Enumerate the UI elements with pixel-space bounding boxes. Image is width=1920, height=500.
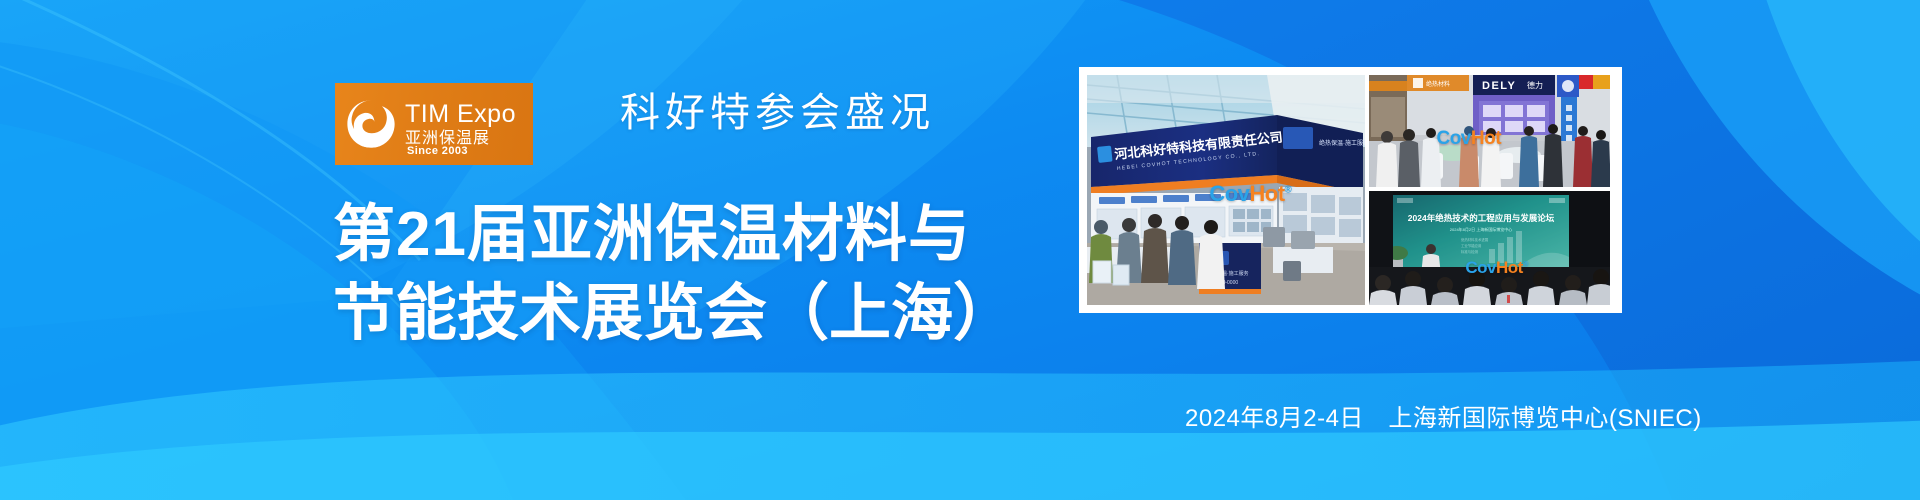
logo-title: TIM Expo bbox=[405, 102, 516, 127]
svg-text:DELY: DELY bbox=[1482, 80, 1516, 92]
hall-photo[interactable]: 绝热材料 DELY 德力 bbox=[1369, 75, 1610, 187]
svg-text:绝热材料: 绝热材料 bbox=[1426, 80, 1450, 88]
headline-line-2: 节能技术展览会（上海） bbox=[333, 274, 1015, 353]
photo-collage: 河北科好特科技有限责任公司 HEBEI COVHOT TECHNOLOGY CO… bbox=[1079, 67, 1622, 313]
covhot-brand-logo: CovHot bbox=[1436, 129, 1501, 148]
covhot-brand-logo: CovHot® bbox=[1465, 259, 1528, 276]
banner-headline: 第21届亚洲保温材料与 节能技术展览会（上海） bbox=[333, 195, 1015, 354]
svg-text:2024年8月2日 上海新国际博览中心: 2024年8月2日 上海新国际博览中心 bbox=[1450, 226, 1512, 232]
booth-photo[interactable]: 河北科好特科技有限责任公司 HEBEI COVHOT TECHNOLOGY CO… bbox=[1087, 75, 1365, 305]
svg-text:绝热材料技术进展: 绝热材料技术进展 bbox=[1461, 237, 1489, 242]
banner-subtitle: 科好特参会盛况 bbox=[620, 80, 935, 138]
yin-yang-leaf-mark-icon bbox=[344, 97, 398, 151]
svg-text:2024年绝热技术的工程应用与发展论坛: 2024年绝热技术的工程应用与发展论坛 bbox=[1408, 213, 1555, 223]
covhot-brand-logo: CovHot® bbox=[1209, 183, 1291, 205]
headline-line-1: 第21届亚洲保温材料与 bbox=[333, 195, 1015, 274]
date-venue-text: 2024年8月2-4日 上海新国际博览中心(SNIEC) bbox=[1185, 398, 1702, 433]
svg-text:标准与检测: 标准与检测 bbox=[1461, 249, 1479, 254]
forum-photo[interactable]: 2024年绝热技术的工程应用与发展论坛 2024年8月2日 上海新国际博览中心 … bbox=[1369, 191, 1610, 305]
svg-text:绝热保温·施工服务: 绝热保温·施工服务 bbox=[1319, 139, 1365, 147]
tim-expo-logo[interactable]: TIM Expo 亚洲保温展 Since 2003 bbox=[335, 83, 533, 165]
logo-since-text: Since 2003 bbox=[407, 145, 468, 157]
svg-text:工业节能应用: 工业节能应用 bbox=[1461, 243, 1481, 248]
svg-text:德力: 德力 bbox=[1527, 80, 1543, 90]
expo-banner: TIM Expo 亚洲保温展 Since 2003 科好特参会盛况 第21届亚洲… bbox=[0, 0, 1920, 500]
